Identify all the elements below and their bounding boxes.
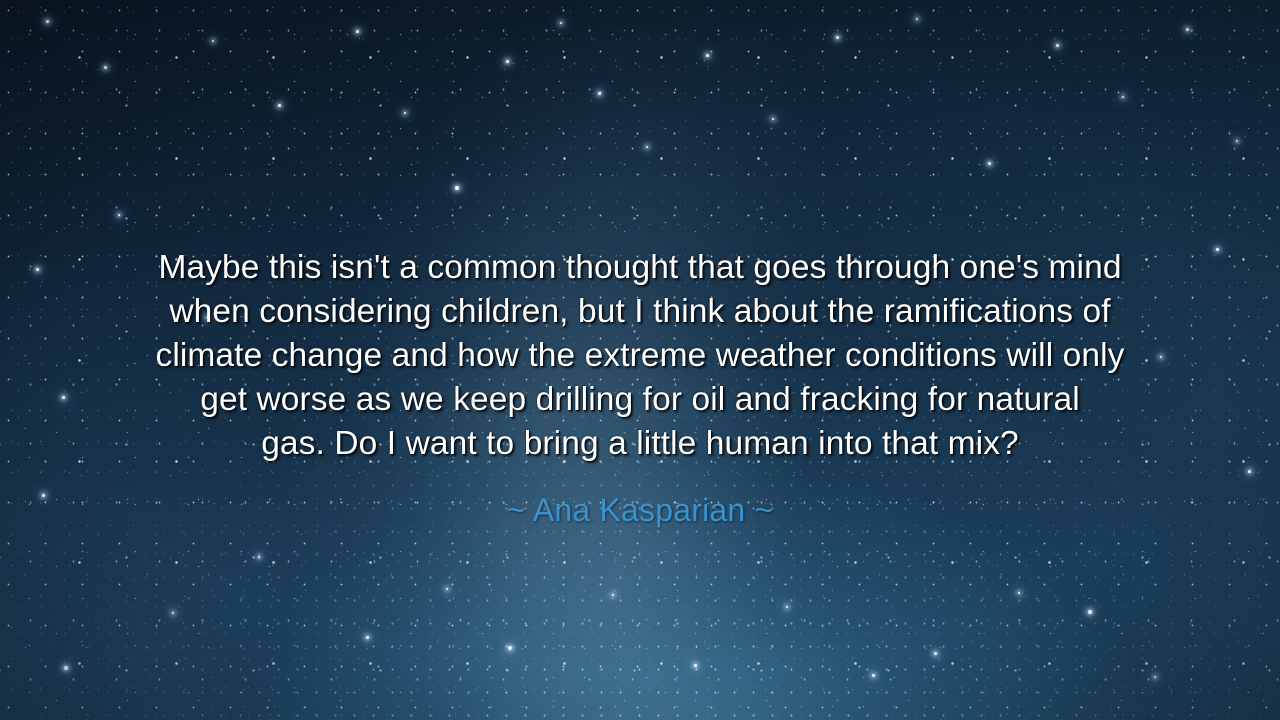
quote-body: Maybe this isn't a common thought that g… <box>0 246 1280 466</box>
quote-card: Maybe this isn't a common thought that g… <box>0 0 1280 720</box>
quote-text-block: Maybe this isn't a common thought that g… <box>0 246 1280 530</box>
quote-attribution: ~ Ana Kasparian ~ <box>0 466 1280 530</box>
